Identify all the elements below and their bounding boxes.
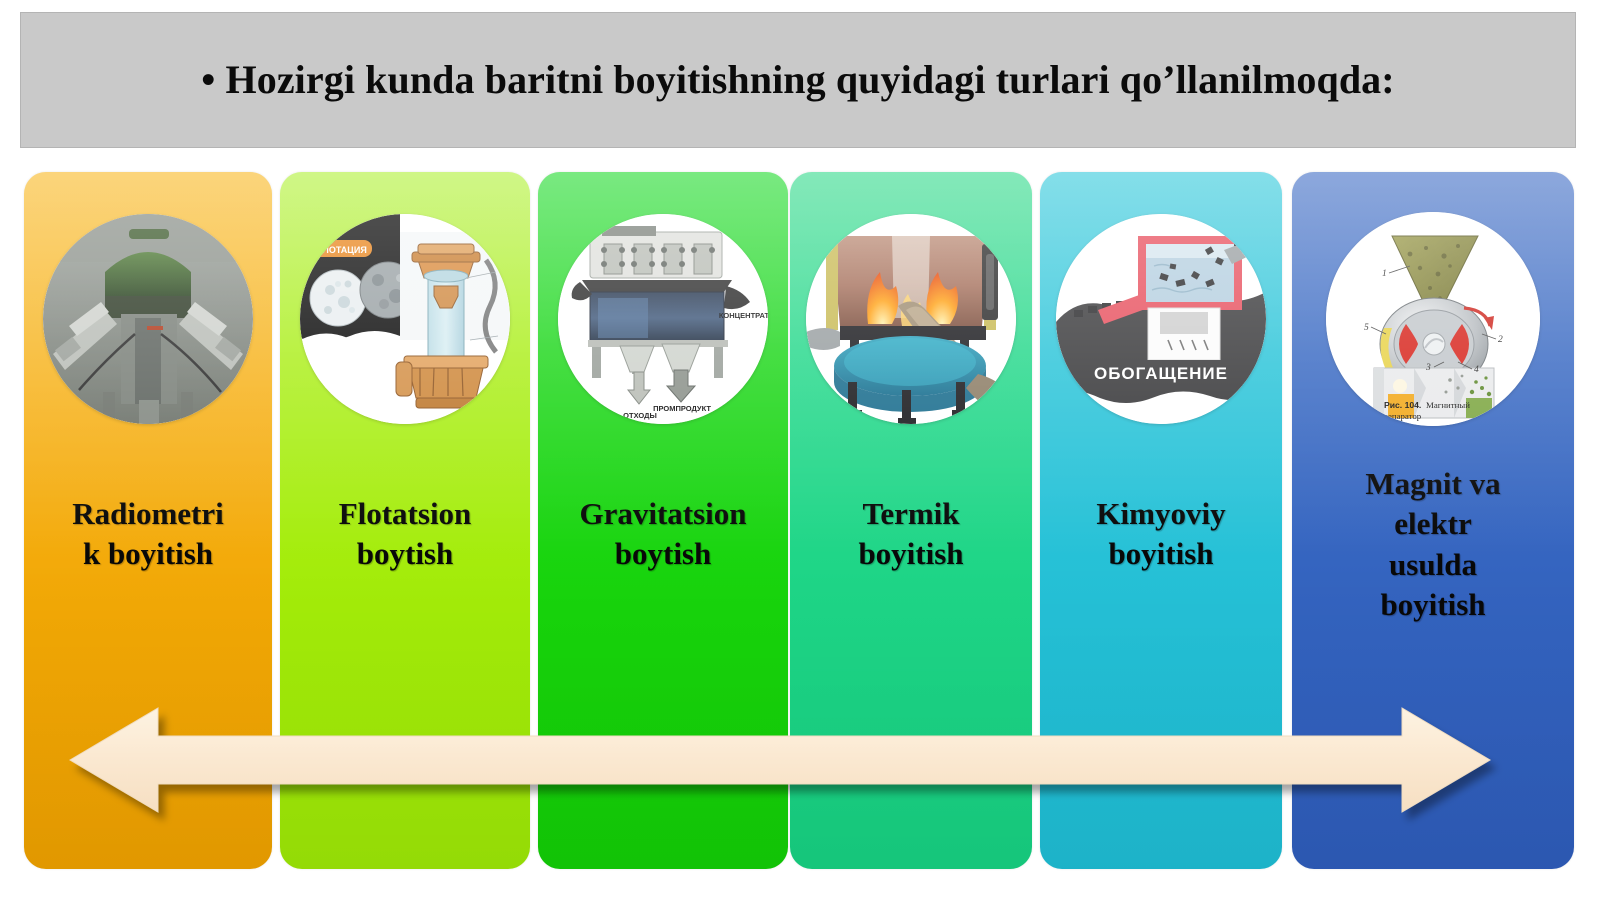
card-magnit-elektr[interactable]: 1 2 3 4 5 — [1292, 172, 1574, 869]
card-flotatsion[interactable]: ФЛОТАЦИЯ — [280, 172, 530, 869]
card-label-gravitatsion: Gravitatsion boytish — [548, 494, 778, 575]
svg-text:КОНЦЕНТРАТ: КОНЦЕНТРАТ — [719, 311, 768, 320]
magnetic-separator-figure-icon: 1 2 3 4 5 — [1326, 212, 1540, 426]
svg-text:3: 3 — [1425, 363, 1431, 373]
title-banner: Hozirgi kunda baritni boyitishning quyid… — [20, 12, 1576, 148]
slide: Hozirgi kunda baritni boyitishning quyid… — [0, 0, 1600, 899]
svg-text:Магнитный: Магнитный — [1426, 400, 1470, 410]
page-title: Hozirgi kunda baritni boyitishning quyid… — [133, 54, 1463, 105]
card-label-magnit-elektr: Magnit va elektr usulda boyitish — [1302, 464, 1564, 625]
svg-text:ПРОМПРОДУКТ: ПРОМПРОДУКТ — [653, 404, 711, 413]
svg-text:сепаратор: сепаратор — [1384, 411, 1422, 421]
card-radiometrik[interactable]: Radiometri k boyitish — [24, 172, 272, 869]
card-kimyoviy[interactable]: ОБОГАЩЕНИЕ Kimyoviy boyitish — [1040, 172, 1282, 869]
thermal-furnace-photo-icon — [806, 214, 1016, 424]
flotation-column-diagram-icon: ФЛОТАЦИЯ — [300, 214, 510, 424]
card-label-flotatsion: Flotatsion boytish — [290, 494, 520, 575]
card-label-termik: Termik boyitish — [800, 494, 1022, 575]
chemical-enrichment-diagram-icon: ОБОГАЩЕНИЕ — [1056, 214, 1266, 424]
svg-text:2: 2 — [1498, 335, 1503, 345]
card-label-radiometrik: Radiometri k boyitish — [34, 494, 262, 575]
svg-text:4: 4 — [1474, 365, 1479, 375]
svg-text:Рис. 104.: Рис. 104. — [1384, 400, 1421, 410]
svg-text:ОБОГАЩЕНИЕ: ОБОГАЩЕНИЕ — [1094, 364, 1228, 383]
svg-text:1: 1 — [1382, 269, 1387, 279]
svg-text:5: 5 — [1364, 323, 1369, 333]
card-termik[interactable]: Termik boyitish — [790, 172, 1032, 869]
method-cards-row: Radiometri k boyitish — [0, 172, 1600, 869]
radiometric-sorting-machine-photo-icon — [43, 214, 253, 424]
gravity-separator-diagram-icon: КОНЦЕНТРАТ ПРОМПРОДУКТ ОТХОДЫ — [558, 214, 768, 424]
card-gravitatsion[interactable]: КОНЦЕНТРАТ ПРОМПРОДУКТ ОТХОДЫ Gravitatsi… — [538, 172, 788, 869]
card-label-kimyoviy: Kimyoviy boyitish — [1050, 494, 1272, 575]
svg-text:ФЛОТАЦИЯ: ФЛОТАЦИЯ — [315, 245, 367, 255]
svg-text:ОТХОДЫ: ОТХОДЫ — [623, 411, 657, 420]
